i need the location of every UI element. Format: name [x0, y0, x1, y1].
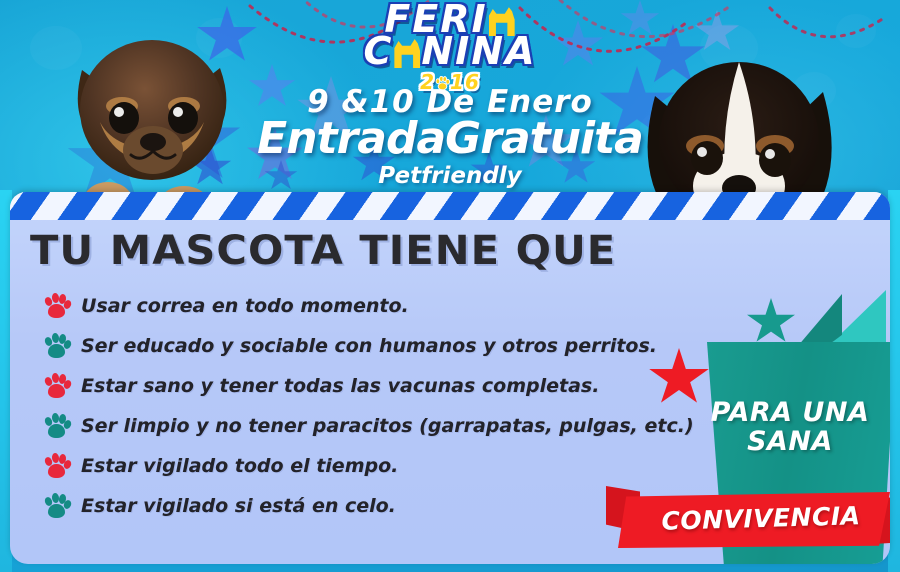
list-item: Ser limpio y no tener paracitos (garrapa… — [44, 406, 640, 446]
paw-print-icon — [44, 493, 70, 519]
banner-title: PARA UNA SANA — [692, 398, 888, 456]
list-item-label: Estar sano y tener todas las vacunas com… — [81, 375, 599, 397]
star-icon — [746, 298, 796, 346]
paw-print-icon — [44, 373, 70, 399]
paw-print-icon — [44, 293, 70, 319]
paw-print-icon — [44, 453, 70, 479]
list-item: Estar vigilado si está en celo. — [44, 486, 640, 526]
paw-print-icon — [44, 333, 70, 359]
rules-panel: TU MASCOTA TIENE QUE Usar correa en todo… — [10, 192, 890, 564]
list-item: Estar sano y tener todas las vacunas com… — [44, 366, 640, 406]
list-item-label: Ser limpio y no tener paracitos (garrapa… — [81, 415, 694, 437]
list-item: Ser educado y sociable con humanos y otr… — [44, 326, 640, 366]
free-entry-label: EntradaGratuita — [0, 113, 900, 164]
rules-list: Usar correa en todo momento. Ser educado… — [44, 286, 640, 526]
logo-text-c: C — [363, 29, 393, 73]
dog-letter-a-icon — [394, 38, 420, 68]
petfriendly-label: Petfriendly — [0, 163, 900, 189]
striped-band-decoration — [10, 192, 890, 220]
paw-print-icon — [44, 413, 70, 439]
list-item: Usar correa en todo momento. — [44, 286, 640, 326]
list-item-label: Usar correa en todo momento. — [81, 295, 409, 317]
event-logo: FERI CNINA 2 16 — [0, 2, 900, 94]
dog-letter-a-icon — [489, 6, 515, 36]
banner-title-line-1: PARA UNA — [692, 398, 888, 427]
list-item-label: Ser educado y sociable con humanos y otr… — [81, 335, 657, 357]
list-item: Estar vigilado todo el tiempo. — [44, 446, 640, 486]
list-item-label: Estar vigilado todo el tiempo. — [81, 455, 398, 477]
list-item-label: Estar vigilado si está en celo. — [81, 495, 396, 517]
logo-text-nina: NINA — [421, 29, 536, 73]
logo-line-canina: CNINA — [0, 34, 900, 69]
banner-title-line-2: SANA — [692, 427, 888, 456]
convivencia-banner: PARA UNA SANA CONVIVENCIA — [630, 290, 890, 564]
page-title: TU MASCOTA TIENE QUE — [30, 228, 616, 274]
poster-canvas: FERI CNINA 2 16 9 &10 De Enero EntradaGr… — [0, 0, 900, 572]
